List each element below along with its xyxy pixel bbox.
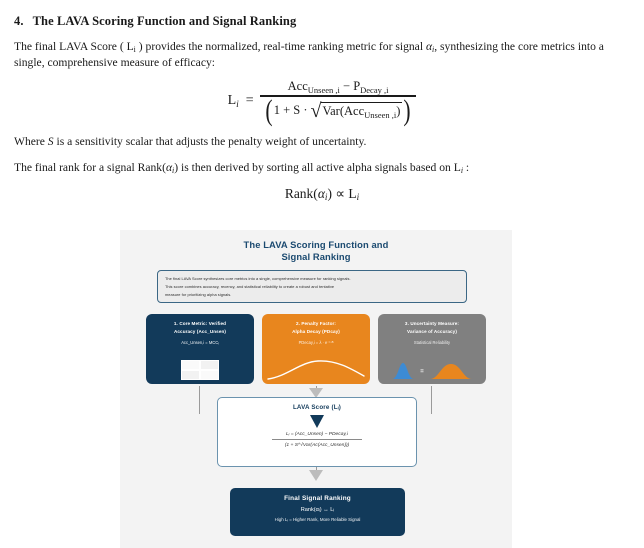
rank-text-a: The final rank for a signal Rank(: [14, 161, 166, 174]
card2-title-line2: Alpha Decay (PDcay): [268, 328, 364, 336]
card-penalty-factor[interactable]: 2. Penalty Factor: Alpha Decay (PDcay) P…: [262, 314, 370, 384]
rank-formula-prop: ) ∝ L: [327, 186, 356, 201]
den-var-sub: Unseen ,i: [364, 110, 396, 120]
formula-numerator: AccUnseen ,i − PDecay ,i: [282, 79, 395, 95]
diagram-title-line2: Signal Ranking: [120, 251, 512, 263]
formula-lhs: Li: [228, 93, 239, 109]
rank-sub-i: i: [461, 166, 463, 175]
den-var: Var(Acc: [322, 104, 364, 118]
section-number: 4.: [14, 14, 24, 29]
card-uncertainty-measure[interactable]: 3. Uncertainty Measure: Variance of Accu…: [378, 314, 486, 384]
numerator-minus: −: [343, 79, 350, 93]
card-core-metric-title: 1. Core Metric: Verified Accuracy (Acc_U…: [152, 320, 248, 335]
page-root: 4.The LAVA Scoring Function and Signal R…: [0, 0, 644, 548]
numerator-acc-sub: Unseen ,i: [308, 85, 340, 95]
intro-line-1: The final LAVA Score synthesizes core me…: [165, 275, 459, 283]
final-ranking-equation: Rank(αᵢ) ↔ Lᵢ: [230, 507, 405, 513]
document-text: 4.The LAVA Scoring Function and Signal R…: [0, 0, 644, 202]
matrix-cell: [201, 371, 218, 379]
intro-alpha-sub: i: [432, 45, 434, 54]
final-ranking-note: High Lᵢ = Higher Rank, More Reliable Sig…: [230, 517, 405, 522]
sensitivity-paragraph: Where S is a sensitivity scalar that adj…: [14, 134, 630, 150]
sens-text-b: is a sensitivity scalar that adjusts the…: [54, 135, 367, 148]
card1-title-line2: Accuracy (Acc_Unsen): [152, 328, 248, 336]
lava-score-equation: Lᵢ = (Acc_Unsen) − PDecay,i (1 + S^√Var(…: [272, 432, 362, 448]
intro-line-3: measure for prioritizing alpha signals.: [165, 291, 459, 299]
wide-distribution-icon: [429, 361, 473, 379]
connector-card1: [199, 386, 200, 414]
intro-sub-i: i: [134, 45, 136, 54]
decay-curve-icon: [262, 354, 370, 384]
card1-subtitle: Acc_Unsen,i = MCCᵢ: [152, 340, 248, 346]
diagram-title: The LAVA Scoring Function and Signal Ran…: [120, 230, 512, 264]
card-penalty-factor-title: 2. Penalty Factor: Alpha Decay (PDcay): [268, 320, 364, 335]
rank-paragraph: The final rank for a signal Rank(αi) is …: [14, 160, 630, 176]
sens-text-a: Where: [14, 135, 48, 148]
den-one-plus-s: 1 + S ·: [274, 103, 308, 118]
rank-formula-open: Rank(: [285, 186, 318, 201]
formula-denominator: ( 1 + S · √ Var(AccUnseen ,i) ): [260, 97, 417, 124]
intro-text-b: ) provides the normalized, real-time ran…: [136, 40, 426, 53]
card3-title-line2: Variance of Accuracy): [384, 328, 480, 336]
rank-formula: Rank(αi) ∝ Li: [14, 186, 630, 202]
card2-title-line1: 2. Penalty Factor:: [268, 320, 364, 328]
lava-score-title: LAVA Score (Lᵢ): [218, 404, 416, 411]
rank-formula-alpha: α: [318, 186, 325, 201]
arrow-lava-to-final: [309, 470, 323, 481]
rank-text-b: ) is then derived by sorting all active …: [174, 161, 461, 174]
den-radical: √ Var(AccUnseen ,i): [311, 102, 403, 119]
intro-paragraph: The final LAVA Score ( Li ) provides the…: [14, 39, 630, 70]
intro-line-2: This score combines accuracy, recency, a…: [165, 283, 459, 291]
matrix-cell: [201, 361, 218, 369]
metric-cards: 1. Core Metric: Verified Accuracy (Acc_U…: [120, 314, 512, 386]
equals-icon: =: [420, 369, 424, 379]
card3-subtitle: Statistical Reliability: [384, 340, 480, 346]
infographic-panel: The LAVA Scoring Function and Signal Ran…: [120, 230, 512, 548]
diagram-intro-box: The final LAVA Score synthesizes core me…: [157, 270, 467, 303]
matrix-cell: [182, 361, 199, 369]
section-heading: 4.The LAVA Scoring Function and Signal R…: [14, 14, 630, 29]
distribution-compare-icon: =: [378, 357, 486, 379]
connector-card3: [431, 386, 432, 414]
card2-subtitle: PDecay,i = λ · e⁻ᵗ·ᴮ: [268, 340, 364, 346]
card-core-metric[interactable]: 1. Core Metric: Verified Accuracy (Acc_U…: [146, 314, 254, 384]
diagram-title-line1: The LAVA Scoring Function and: [120, 239, 512, 251]
formula-lhs-sub: i: [236, 100, 239, 110]
den-open-paren: (: [265, 99, 272, 124]
radical-sign: √: [311, 103, 322, 119]
den-var-close: ): [396, 104, 400, 118]
rank-alpha-sub: i: [172, 166, 174, 175]
formula-fraction: AccUnseen ,i − PDecay ,i ( 1 + S · √ Var…: [260, 79, 417, 123]
matrix-cell: [182, 371, 199, 379]
final-ranking-box[interactable]: Final Signal Ranking Rank(αᵢ) ↔ Lᵢ High …: [230, 488, 405, 536]
final-ranking-title: Final Signal Ranking: [230, 495, 405, 502]
den-close-paren: ): [404, 99, 411, 124]
rank-text-c: :: [463, 161, 469, 174]
narrow-distribution-icon: [391, 361, 415, 379]
card-uncertainty-measure-title: 3. Uncertainty Measure: Variance of Accu…: [384, 320, 480, 335]
formula-equals: =: [246, 93, 254, 109]
numerator-p-sub: Decay ,i: [360, 85, 388, 95]
rank-formula-sub: i: [357, 192, 360, 202]
numerator-acc: Acc: [288, 79, 308, 93]
card3-title-line1: 3. Uncertainty Measure:: [384, 320, 480, 328]
lava-score-box[interactable]: LAVA Score (Lᵢ) Lᵢ = (Acc_Unsen) − PDeca…: [217, 397, 417, 467]
intro-text-a: The final LAVA Score ( L: [14, 40, 134, 53]
radical-content: Var(AccUnseen ,i): [321, 102, 402, 119]
confusion-matrix-icon: [181, 360, 219, 380]
lava-triangle-icon: [310, 415, 324, 428]
section-title: The LAVA Scoring Function and Signal Ran…: [33, 14, 297, 28]
formula-lhs-L: L: [228, 93, 237, 108]
lava-score-formula: Li = AccUnseen ,i − PDecay ,i ( 1 + S · …: [14, 79, 630, 123]
lava-numerator: Lᵢ = (Acc_Unsen) − PDecay,i: [272, 432, 362, 439]
card1-title-line1: 1. Core Metric: Verified: [152, 320, 248, 328]
lava-denominator: (1 + S^√Var(Ac(Acc_Unsen))): [272, 440, 362, 448]
